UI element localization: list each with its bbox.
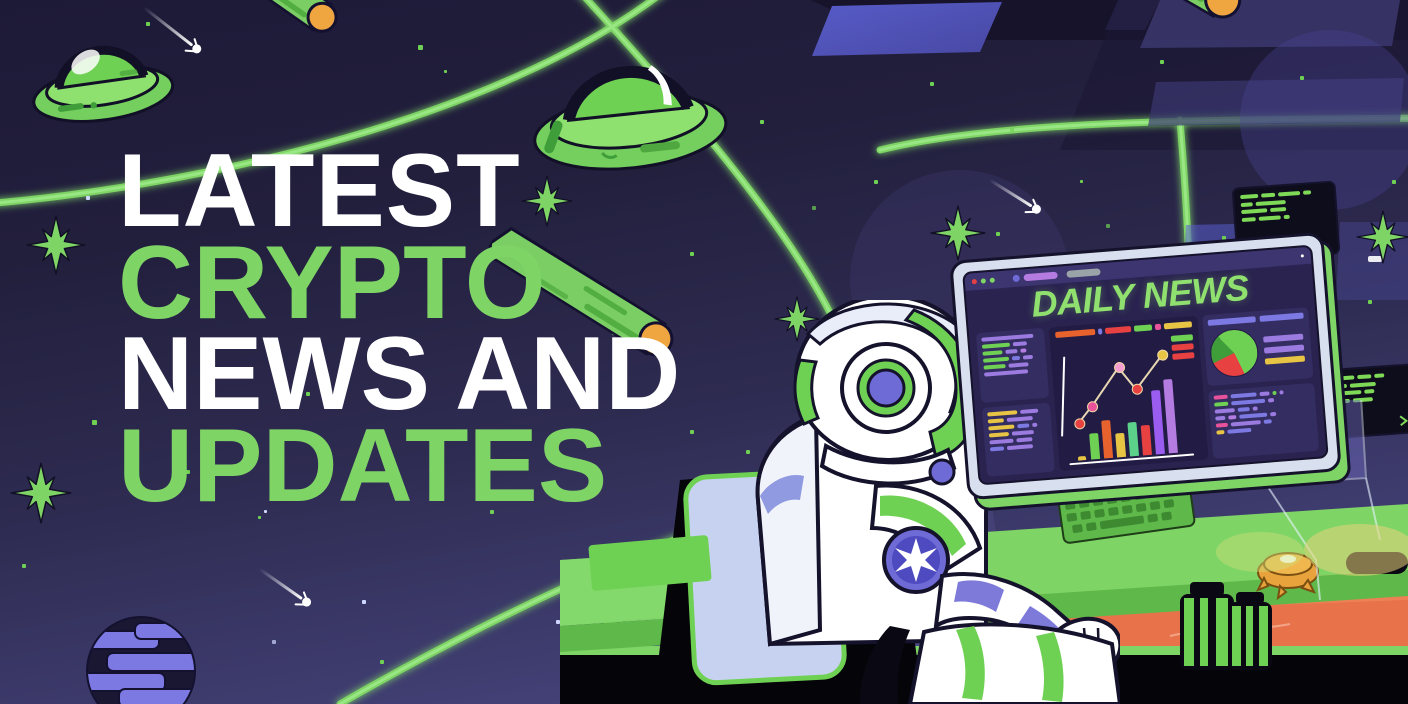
terminal-token [1284,214,1290,218]
data-cell [1259,391,1269,396]
data-cell [1012,356,1020,361]
pie-chart [1208,328,1260,380]
legend-pill [1208,316,1256,326]
data-row [990,442,1048,451]
tab-active[interactable] [1023,272,1057,282]
monitor[interactable]: DAILY NEWS [949,232,1342,501]
terminal-token [1241,202,1253,207]
data-cell [982,343,1010,349]
data-cell [1020,408,1038,413]
menu-dot[interactable] [1301,254,1304,257]
terminal-token [1357,374,1371,379]
star-dot [1080,180,1083,183]
star-dot [22,564,26,568]
legend-pill [1263,334,1303,343]
data-cell [1008,362,1028,368]
sparkle-left-lower [10,462,72,524]
data-cell [1214,395,1228,400]
star-dot [690,252,694,256]
data-cell [989,438,1013,444]
terminal-token [1278,191,1300,197]
pie-legend [1263,334,1307,365]
planet-bottom-left [86,616,196,704]
chart-point [1113,362,1125,374]
address-bar[interactable] [1066,268,1100,278]
data-cell [1012,429,1034,435]
panel-right-bottom[interactable] [1208,383,1319,459]
data-cell [1253,406,1258,410]
terminal-token [1242,217,1256,222]
data-cell [1231,420,1261,426]
star-dot [272,640,276,644]
data-row [984,368,1042,377]
sparkle-right-mid [1356,210,1408,264]
terminal-token [1270,207,1286,212]
star-dot [1368,300,1372,304]
dashboard-right-column [1202,307,1319,459]
window-dot-min[interactable] [981,278,986,283]
data-cell [1279,390,1283,394]
data-cell [1270,412,1276,416]
bottle-cluster [1180,582,1272,670]
star-dot [418,45,423,50]
data-cell [1013,341,1027,346]
window-dot-max[interactable] [990,278,995,283]
terminal-token [1256,199,1286,205]
star-dot [92,420,97,425]
window-dot-close[interactable] [972,279,977,284]
data-cell [1272,391,1276,395]
terminal-token [1241,208,1267,214]
data-cell [990,446,1004,451]
star-dot [760,120,764,124]
chart-line-series [1063,316,1201,470]
data-cell [1216,430,1224,435]
sparkle-left-mid [26,215,86,275]
star-dot [86,196,90,200]
data-cell [1023,355,1033,360]
data-cell [1239,413,1267,419]
star-dot [930,82,934,86]
legend-pill [1264,345,1304,354]
dashboard-left-column [976,328,1055,477]
star-dot [444,70,447,73]
terminal-token [1240,194,1258,199]
data-cell [984,369,1028,376]
legend-pill [1265,356,1305,365]
data-cell [1007,416,1033,422]
terminal-token [1350,381,1376,387]
panel-chart[interactable] [1049,316,1209,471]
data-cell [988,418,1004,423]
terminal-token [1374,373,1384,378]
star-dot [1160,60,1164,64]
page-title: LATEST CRYPTO NEWS AND UPDATES [118,146,680,512]
terminal-token [1259,215,1281,221]
data-cell [1005,349,1017,354]
data-cell [1017,423,1029,428]
panel-pie[interactable] [1202,307,1313,386]
data-cell [1032,422,1037,426]
hero-banner: LATEST CRYPTO NEWS AND UPDATES [0,0,1408,704]
star-dot [1300,76,1304,80]
star-dot [362,600,366,604]
star-dot [812,206,816,210]
star-dot [996,232,1000,236]
data-cell [983,364,1005,370]
data-cell [983,357,1009,363]
terminal-token [1303,190,1311,195]
terminal-token [1261,193,1275,198]
star-dot [874,180,878,184]
data-cell [1227,428,1251,434]
tab-indicator[interactable] [1012,275,1020,283]
data-cell [987,410,1017,416]
data-cell [1216,423,1228,428]
star-dot [1010,128,1014,132]
sparkle-upper-mid [930,205,986,261]
data-cell [982,350,1002,356]
legend-pill [1259,312,1303,321]
data-cell [989,431,1009,437]
data-cell [1238,407,1250,412]
chart-point [1131,383,1143,395]
terminal-card-upper-body [1240,189,1330,222]
monitor-screen[interactable]: DAILY NEWS [962,245,1329,486]
data-cell [1230,392,1256,398]
data-cell [1268,398,1274,402]
chart-y-axis [1061,357,1065,437]
data-cell [1215,408,1235,414]
data-cell [1214,402,1228,407]
chart-point [1073,418,1085,430]
data-cell [1016,437,1032,442]
star-dot [1392,180,1396,184]
panel-left-top[interactable] [976,328,1049,403]
headline-line-4: UPDATES [118,421,680,513]
star-dot [380,660,384,664]
dashboard-grid [976,307,1319,477]
panel-left-bottom[interactable] [982,402,1055,477]
data-cell [1007,444,1033,450]
data-cell [988,424,1014,430]
terminal-token [1364,389,1374,394]
data-cell [1231,399,1265,406]
data-cell [1020,348,1026,352]
star-dot [1106,224,1110,228]
data-cell [1264,419,1272,424]
data-cell [1228,415,1236,420]
ufo-top-left [22,20,180,135]
data-cell [1215,416,1225,421]
